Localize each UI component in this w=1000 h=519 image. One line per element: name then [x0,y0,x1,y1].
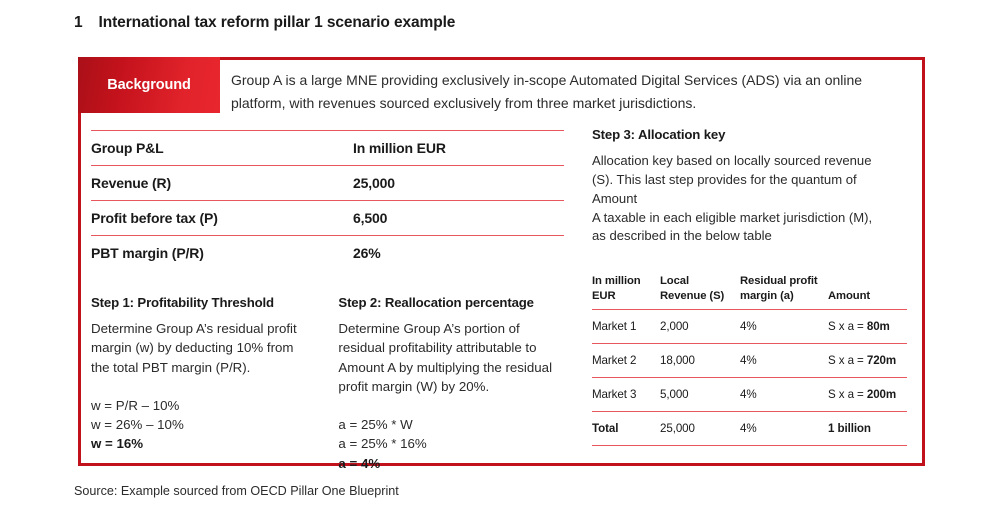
right-column: Step 3: Allocation key Allocation key ba… [592,127,910,446]
step-2-title: Step 2: Reallocation percentage [338,295,581,310]
amount-value: 200m [867,388,896,401]
table-row: Market 2 18,000 4% S x a = 720m [592,344,907,378]
cell-margin: 4% [740,412,828,446]
cell-market: Total [592,412,660,446]
cell-revenue: 2,000 [660,310,740,344]
pl-row-label: Group P&L [91,131,353,166]
page-title-text: International tax reform pillar 1 scenar… [99,14,456,31]
background-tab-label: Background [107,77,191,93]
allocation-table: In million EUR Local Revenue (S) Residua… [592,274,907,446]
step-2-body: Determine Group A’s portion of residual … [338,319,553,396]
amount-value: 80m [867,320,890,333]
step-1-title: Step 1: Profitability Threshold [91,295,338,310]
table-row: Revenue (R) 25,000 [91,166,564,201]
cell-revenue: 18,000 [660,344,740,378]
amount-prefix: S x a = [828,320,867,333]
scenario-panel: Background Group A is a large MNE provid… [78,57,925,466]
amount-prefix: S x a = [828,354,867,367]
pl-row-label: PBT margin (P/R) [91,236,353,271]
formula-line-result: w = 16% [91,434,338,453]
cell-market: Market 1 [592,310,660,344]
step-2: Step 2: Reallocation percentage Determin… [338,295,581,473]
step-2-formulas: a = 25% * W a = 25% * 16% a = 4% [338,415,581,473]
table-row: Group P&L In million EUR [91,131,564,166]
table-row: Market 1 2,000 4% S x a = 80m [592,310,907,344]
background-description: Group A is a large MNE providing exclusi… [231,69,903,114]
formula-line-result: a = 4% [338,454,581,473]
left-column: Group P&L In million EUR Revenue (R) 25,… [91,130,581,473]
steps-row: Step 1: Profitability Threshold Determin… [91,295,581,473]
cell-amount: S x a = 80m [828,310,907,344]
group-pl-table: Group P&L In million EUR Revenue (R) 25,… [91,130,564,270]
page-title-number: 1 [74,14,83,31]
step-3-body: Allocation key based on locally sourced … [592,152,887,246]
cell-revenue: 5,000 [660,378,740,412]
step-1-formulas: w = P/R – 10% w = 26% – 10% w = 16% [91,396,338,454]
pl-row-value: In million EUR [353,131,564,166]
pl-row-label: Profit before tax (P) [91,201,353,236]
formula-line: w = 26% – 10% [91,415,338,434]
col-header-in-million-eur: In million EUR [592,274,660,309]
pl-row-value: 6,500 [353,201,564,236]
source-note: Source: Example sourced from OECD Pillar… [74,484,399,498]
cell-margin: 4% [740,344,828,378]
formula-line: w = P/R – 10% [91,396,338,415]
cell-margin: 4% [740,378,828,412]
pl-row-label: Revenue (R) [91,166,353,201]
cell-revenue: 25,000 [660,412,740,446]
step-1-body: Determine Group A’s residual profit marg… [91,319,306,377]
cell-amount: S x a = 720m [828,344,907,378]
step-3-title: Step 3: Allocation key [592,127,910,142]
col-header-amount: Amount [828,274,907,309]
table-row: PBT margin (P/R) 26% [91,236,564,271]
table-row: Market 3 5,000 4% S x a = 200m [592,378,907,412]
pl-row-value: 26% [353,236,564,271]
cell-amount: 1 billion [828,412,907,446]
background-tab: Background [78,57,220,113]
table-row: Profit before tax (P) 6,500 [91,201,564,236]
pl-row-value: 25,000 [353,166,564,201]
cell-amount: S x a = 200m [828,378,907,412]
table-row-total: Total 25,000 4% 1 billion [592,412,907,446]
cell-margin: 4% [740,310,828,344]
step-1: Step 1: Profitability Threshold Determin… [91,295,338,473]
amount-prefix: S x a = [828,388,867,401]
amount-value: 720m [867,354,896,367]
page-title: 1International tax reform pillar 1 scena… [74,14,455,32]
cell-market: Market 2 [592,344,660,378]
formula-line: a = 25% * 16% [338,434,581,453]
formula-line: a = 25% * W [338,415,581,434]
cell-market: Market 3 [592,378,660,412]
table-header-row: In million EUR Local Revenue (S) Residua… [592,274,907,309]
col-header-residual-profit-margin: Residual profit margin (a) [740,274,828,309]
col-header-local-revenue: Local Revenue (S) [660,274,740,309]
